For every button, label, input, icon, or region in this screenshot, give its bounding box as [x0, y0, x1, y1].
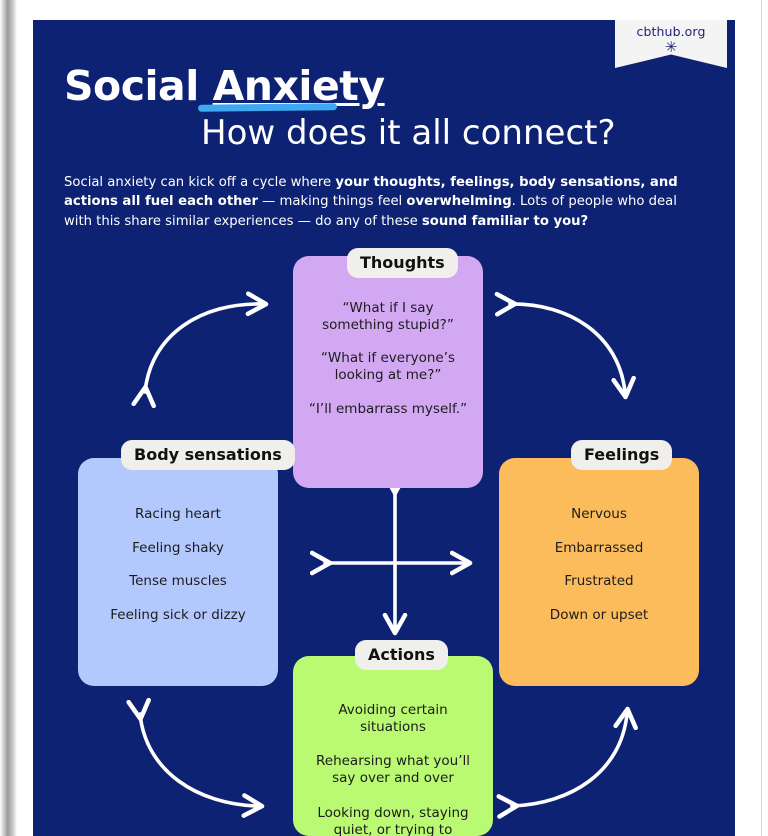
page-subtitle: How does it all connect? [201, 113, 616, 153]
list-item: Racing heart [88, 506, 268, 523]
box-label-feelings: Feelings [571, 440, 672, 470]
page-title-plain: Social [64, 62, 213, 110]
box-body-sensations: Racing heart Feeling shaky Tense muscles… [78, 458, 278, 686]
list-item: Tense muscles [88, 573, 268, 590]
box-label-actions: Actions [355, 640, 448, 670]
intro-paragraph: Social anxiety can kick off a cycle wher… [64, 173, 707, 231]
infographic-poster: cbthub.org ✳ Social Anxiety How does it … [33, 20, 735, 836]
box-actions: Avoiding certain situations Rehearsing w… [293, 656, 493, 836]
box-thoughts-items: “What if I say something stupid?” “What … [307, 300, 469, 418]
right-edge-rule [761, 0, 762, 836]
box-feelings: Nervous Embarrassed Frustrated Down or u… [499, 458, 699, 686]
title-brush-underline [198, 103, 337, 111]
asterisk-star-icon: ✳ [665, 40, 678, 55]
list-item: Rehearsing what you’ll say over and over [305, 753, 481, 786]
page-viewport: cbthub.org ✳ Social Anxiety How does it … [0, 0, 768, 836]
list-item: Avoiding certain situations [305, 702, 481, 735]
list-item: Feeling sick or dizzy [88, 607, 268, 624]
list-item: “What if everyone’s looking at me?” [307, 350, 469, 383]
arrow-curve-bottom-right [512, 714, 627, 806]
logo-text: cbthub.org [637, 26, 706, 39]
list-item: Looking down, staying quiet, or trying t… [305, 805, 481, 836]
list-item: Frustrated [509, 573, 689, 590]
arrow-curve-top-left [145, 304, 261, 392]
intro-part-2: — making things feel [258, 194, 406, 209]
page-title: Social Anxiety [64, 62, 385, 110]
list-item: Down or upset [509, 607, 689, 624]
list-item: Nervous [509, 506, 689, 523]
box-thoughts: “What if I say something stupid?” “What … [293, 256, 483, 488]
intro-bold-2: overwhelming [406, 194, 511, 209]
list-item: Embarrassed [509, 540, 689, 557]
list-item: Feeling shaky [88, 540, 268, 557]
list-item: “What if I say something stupid?” [307, 300, 469, 333]
intro-bold-3: sound familiar to you? [422, 214, 588, 229]
arrow-curve-bottom-left [140, 714, 257, 806]
list-item: “I’ll embarrass myself.” [307, 401, 469, 418]
cbthub-logo-banner[interactable]: cbthub.org ✳ [615, 20, 727, 68]
left-gutter-shadow [0, 0, 17, 836]
arrow-curve-top-right [510, 304, 625, 392]
box-body-items: Racing heart Feeling shaky Tense muscles… [88, 506, 268, 624]
box-feelings-items: Nervous Embarrassed Frustrated Down or u… [509, 506, 689, 624]
box-label-thoughts: Thoughts [347, 248, 458, 278]
box-actions-items: Avoiding certain situations Rehearsing w… [305, 702, 481, 836]
box-label-body-sensations: Body sensations [121, 440, 295, 470]
intro-part-1: Social anxiety can kick off a cycle wher… [64, 175, 335, 190]
